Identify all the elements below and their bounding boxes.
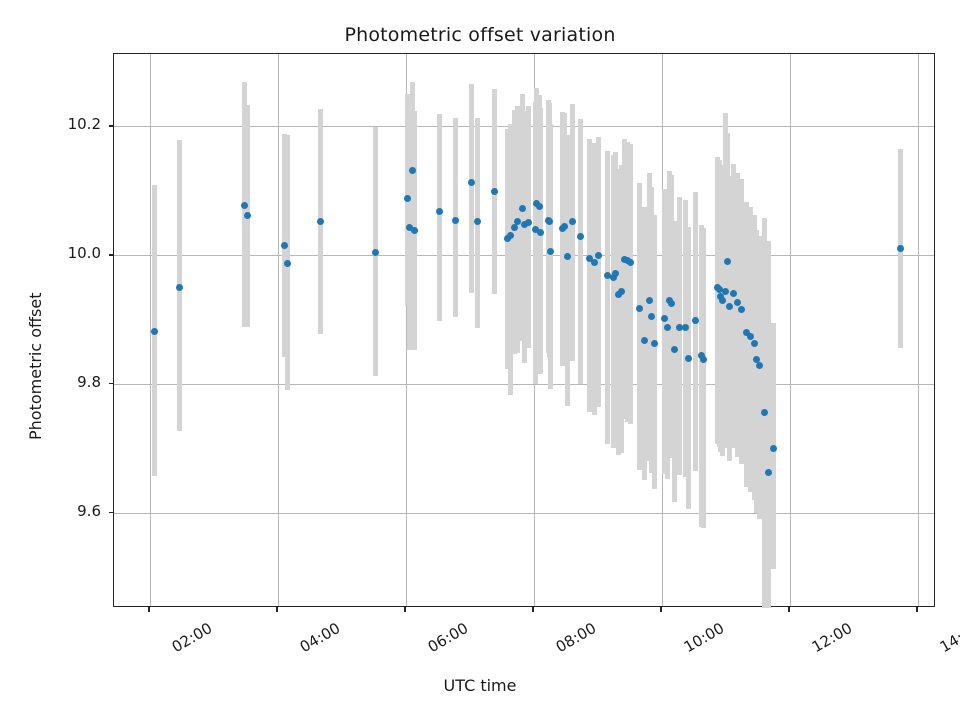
y-axis-tick-label: 10.0	[31, 244, 101, 262]
data-point	[722, 288, 729, 295]
plot-area	[113, 53, 935, 607]
data-point	[536, 203, 543, 210]
data-point	[627, 259, 634, 266]
data-point	[511, 224, 518, 231]
x-axis-tick-label: 04:00	[297, 619, 343, 656]
error-bar	[570, 104, 575, 360]
x-axis-tick	[148, 607, 149, 612]
data-point	[761, 409, 768, 416]
data-point	[724, 258, 731, 265]
error-bar	[548, 124, 553, 389]
data-point	[591, 259, 598, 266]
error-bar	[701, 228, 706, 528]
y-axis-tick	[109, 254, 114, 255]
data-point	[317, 218, 324, 225]
data-point	[151, 328, 158, 335]
data-point	[507, 232, 514, 239]
error-bar	[538, 108, 543, 375]
data-point	[409, 167, 416, 174]
error-bar	[686, 227, 691, 509]
x-axis-tick-label: 08:00	[553, 619, 599, 656]
error-bar	[652, 215, 657, 489]
y-axis-title: Photometric offset	[26, 292, 45, 440]
y-axis-tick-label: 10.2	[31, 115, 101, 133]
data-point	[641, 337, 648, 344]
data-point	[897, 245, 904, 252]
x-axis-tick	[660, 607, 661, 612]
data-point	[646, 297, 653, 304]
error-bar	[628, 144, 633, 424]
data-point	[372, 249, 379, 256]
data-point	[685, 355, 692, 362]
y-axis-tick	[109, 512, 114, 513]
x-axis-title: UTC time	[0, 676, 960, 695]
error-bar	[587, 139, 592, 412]
data-point	[636, 305, 643, 312]
data-point	[770, 445, 777, 452]
x-axis-tick-label: 14:00	[937, 619, 960, 656]
error-bar	[469, 84, 474, 293]
data-point	[519, 205, 526, 212]
data-points-layer	[114, 54, 934, 606]
data-point	[738, 306, 745, 313]
x-axis-tick-label: 10:00	[681, 619, 727, 656]
data-point	[244, 212, 251, 219]
data-point	[241, 202, 248, 209]
x-axis-tick-label: 06:00	[425, 619, 471, 656]
x-axis-tick	[916, 607, 917, 612]
chart-title: Photometric offset variation	[0, 24, 960, 46]
data-point	[612, 270, 619, 277]
error-bar	[605, 151, 610, 445]
data-point	[730, 290, 737, 297]
data-point	[719, 297, 726, 304]
data-point	[491, 188, 498, 195]
error-bar	[677, 197, 682, 475]
data-point	[284, 260, 291, 267]
data-point	[671, 346, 678, 353]
data-point	[404, 195, 411, 202]
data-point	[682, 324, 689, 331]
x-axis-tick	[532, 607, 533, 612]
data-point	[537, 229, 544, 236]
error-bar	[596, 137, 601, 408]
error-bar	[437, 114, 442, 321]
data-point	[569, 218, 576, 225]
error-bar	[578, 119, 583, 384]
data-point	[700, 356, 707, 363]
data-point	[618, 288, 625, 295]
x-axis-tick	[276, 607, 277, 612]
data-point	[514, 218, 521, 225]
data-point	[668, 300, 675, 307]
chart-figure: Photometric offset variation 10.210.09.8…	[0, 0, 960, 720]
data-point	[546, 218, 553, 225]
y-axis-tick-label: 9.6	[31, 502, 101, 520]
y-axis-tick	[109, 125, 114, 126]
x-axis-tick-label: 12:00	[809, 619, 855, 656]
y-axis-tick	[109, 383, 114, 384]
data-point	[411, 227, 418, 234]
x-axis-tick-label: 02:00	[169, 619, 215, 656]
data-point	[734, 299, 741, 306]
data-point	[436, 208, 443, 215]
data-point	[281, 242, 288, 249]
data-point	[561, 223, 568, 230]
data-point	[577, 233, 584, 240]
x-axis-tick	[788, 607, 789, 612]
x-axis-tick	[404, 607, 405, 612]
error-bar	[526, 106, 531, 348]
